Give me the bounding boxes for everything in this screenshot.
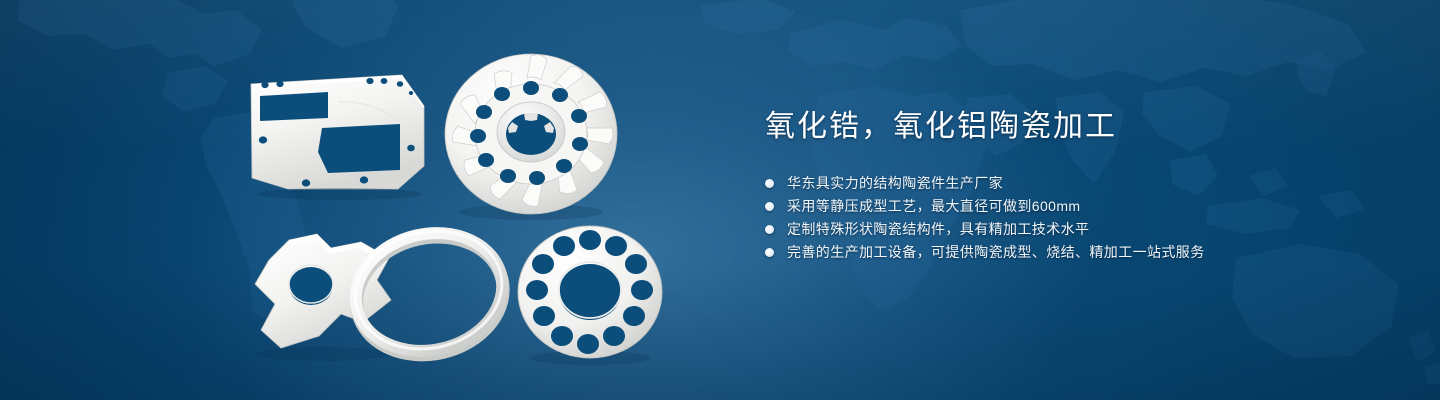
feature-list: 华东具实力的结构陶瓷件生产厂家 采用等静压成型工艺，最大直径可做到600mm 定… xyxy=(765,172,1385,264)
page-title: 氧化锆，氧化铝陶瓷加工 xyxy=(765,108,1385,146)
ceramic-ring xyxy=(345,222,513,362)
product-image-group xyxy=(0,0,740,400)
list-item: 采用等静压成型工艺，最大直径可做到600mm xyxy=(765,195,1385,218)
ceramic-impeller xyxy=(440,44,622,224)
feature-text: 完善的生产加工设备，可提供陶瓷成型、烧结、精加工一站式服务 xyxy=(787,241,1205,264)
list-item: 华东具实力的结构陶瓷件生产厂家 xyxy=(765,172,1385,195)
bullet-dot-icon xyxy=(765,225,774,234)
feature-text: 定制特殊形状陶瓷结构件，具有精加工技术水平 xyxy=(787,218,1089,241)
list-item: 完善的生产加工设备，可提供陶瓷成型、烧结、精加工一站式服务 xyxy=(765,241,1385,264)
bullet-dot-icon xyxy=(765,202,774,211)
list-item: 定制特殊形状陶瓷结构件，具有精加工技术水平 xyxy=(765,218,1385,241)
ceramic-hole-disc xyxy=(512,218,672,368)
promo-banner: 氧化锆，氧化铝陶瓷加工 华东具实力的结构陶瓷件生产厂家 采用等静压成型工艺，最大… xyxy=(0,0,1440,400)
banner-copy: 氧化锆，氧化铝陶瓷加工 华东具实力的结构陶瓷件生产厂家 采用等静压成型工艺，最大… xyxy=(765,108,1385,264)
bullet-dot-icon xyxy=(765,179,774,188)
feature-text: 华东具实力的结构陶瓷件生产厂家 xyxy=(787,172,1003,195)
ceramic-flat-plate xyxy=(248,72,430,192)
bullet-dot-icon xyxy=(765,248,774,257)
feature-text: 采用等静压成型工艺，最大直径可做到600mm xyxy=(787,195,1080,218)
